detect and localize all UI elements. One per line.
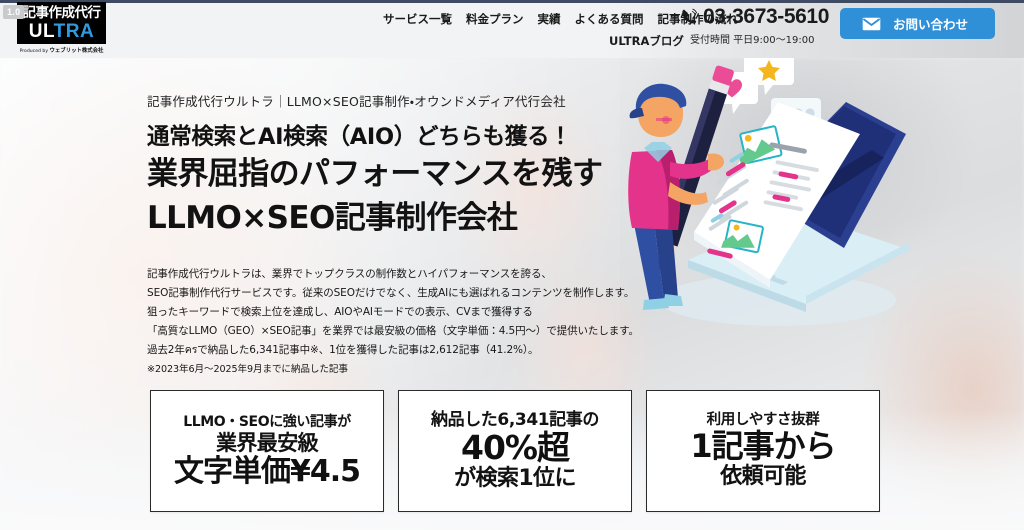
logo-brand-tra: TRA — [54, 21, 95, 42]
card-1-big-text: 文字単価¥4.5 — [174, 455, 360, 488]
writer-laptop-illustration — [610, 42, 990, 342]
hero-lead-paragraph: 記事作成代行ウルトラは、業界でトップクラスの制作数とハイパフォーマンスを誇る、 … — [147, 265, 639, 378]
hero-eyebrow: 記事作成代行ウルトラ｜LLMO×SEO記事制作・オウンドメディア代行会社 — [147, 91, 566, 110]
header-phone-block: 03-3673-5610 受付時間 平日9:00〜19:00 — [679, 6, 829, 46]
card-3-bottom-text: 依頼可能 — [720, 464, 806, 490]
nav-item-pricing[interactable]: 料金プラン — [466, 11, 524, 27]
lead-line-5: 過去2年ครで納品した6,341記事中※、1位を獲得した記事は2,612記事（4… — [147, 341, 639, 360]
hero-headline-line3: LLMO×SEO記事制作会社 — [147, 196, 602, 240]
card-2-bottom-text: が検索1位に — [454, 466, 576, 492]
highlight-cards: LLMO・SEOに強い記事が 業界最安級 文字単価¥4.5 納品した6,341記… — [150, 390, 880, 512]
card-1-mid-text: 業界最安級 — [216, 431, 318, 455]
logo-produced-by: Produced by — [20, 49, 50, 54]
lead-line-2: SEO記事制作代行サービスです。従来のSEOだけでなく、生成AIにも選ばれるコン… — [147, 284, 639, 303]
logo-brand-ul: UL — [29, 21, 54, 42]
phone-number[interactable]: 03-3673-5610 — [703, 6, 829, 27]
logo-kanji-text: 記事作成代行 — [23, 6, 101, 20]
phone-icon — [679, 7, 699, 27]
nav-item-blog[interactable]: ULTRAブログ — [609, 33, 684, 49]
lead-line-1: 記事作成代行ウルトラは、業界でトップクラスの制作数とハイパフォーマンスを誇る、 — [147, 265, 639, 284]
logo-box: 記事作成代行 ULTRA — [17, 2, 106, 44]
mail-icon — [862, 17, 881, 31]
highlight-card-ranking: 納品した6,341記事の 40%超 が検索1位に — [398, 390, 632, 512]
card-2-top-text: 納品した6,341記事の — [431, 410, 599, 430]
page-root: 1.0 記事作成代行 ULTRA Produced by ウェブリット株式会社 … — [0, 0, 1024, 530]
highlight-card-price: LLMO・SEOに強い記事が 業界最安級 文字単価¥4.5 — [150, 390, 384, 512]
phone-line[interactable]: 03-3673-5610 — [679, 6, 829, 27]
contact-button-label: お問い合わせ — [893, 14, 968, 33]
nav-item-faq[interactable]: よくある質問 — [575, 11, 644, 27]
hero-headline-line1: 通常検索とAI検索（AIO）どちらも獲る！ — [147, 122, 602, 152]
card-3-big-text: 1記事から — [690, 429, 835, 464]
logo-brand-text: ULTRA — [29, 22, 94, 41]
lead-line-3: 狙ったキーワードで検索上位を達成し、AIOやAIモードでの表示、CVまで獲得する — [147, 303, 639, 322]
lead-line-4: 「高質なLLMO（GEO）×SEO記事」を業界では最安級の価格（文字単価：4.5… — [147, 322, 639, 341]
nav-item-results[interactable]: 実績 — [538, 11, 561, 27]
logo-company-name: ウェブリット株式会社 — [50, 48, 104, 54]
version-badge: 1.0 — [3, 5, 24, 19]
lead-footnote: ※2023年6月〜2025年9月までに納品した記事 — [147, 361, 639, 378]
nav-item-services[interactable]: サービス一覧 — [383, 11, 452, 27]
hero-headline: 通常検索とAI検索（AIO）どちらも獲る！ 業界屈指のパフォーマンスを残す LL… — [147, 122, 602, 240]
card-1-top-text: LLMO・SEOに強い記事が — [183, 414, 351, 431]
site-logo[interactable]: 記事作成代行 ULTRA Produced by ウェブリット株式会社 — [17, 2, 106, 55]
contact-button[interactable]: お問い合わせ — [840, 8, 995, 39]
highlight-card-minimum-order: 利用しやすさ抜群 1記事から 依頼可能 — [646, 390, 880, 512]
logo-subtext: Produced by ウェブリット株式会社 — [17, 46, 106, 54]
nav-secondary-row: ULTRAブログ — [609, 33, 684, 49]
hero-headline-line2: 業界屈指のパフォーマンスを残す — [147, 152, 602, 196]
phone-hours: 受付時間 平日9:00〜19:00 — [690, 31, 814, 46]
card-2-big-text: 40%超 — [461, 430, 569, 466]
